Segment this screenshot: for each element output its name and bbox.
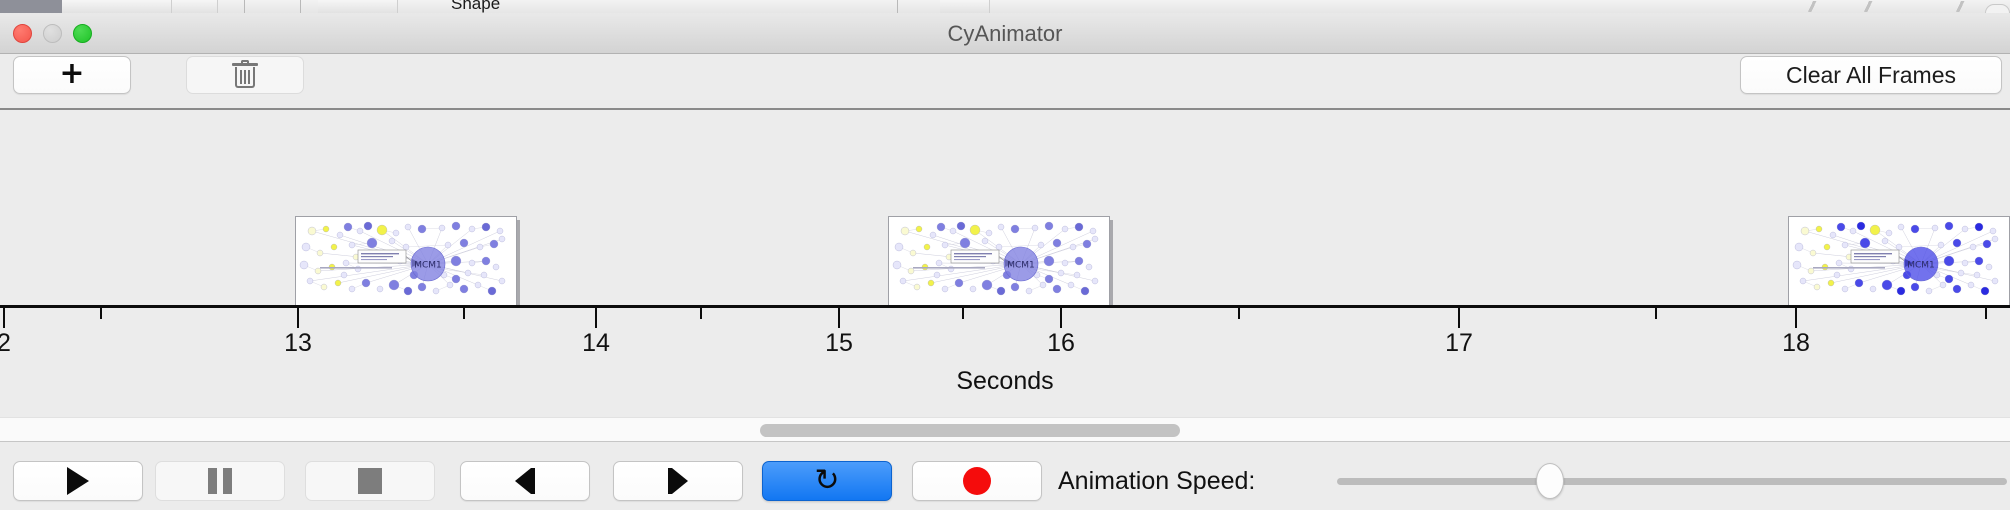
- timeline-frame-thumbnail[interactable]: MCM1: [888, 216, 1110, 308]
- ruler-tick-label: 18: [1782, 329, 1810, 358]
- ruler-major-tick: [1060, 308, 1062, 328]
- clear-all-frames-label: Clear All Frames: [1786, 62, 1956, 89]
- bg-slash: [1804, 1, 1819, 12]
- bg-tick: [300, 0, 301, 13]
- ruler-tick-label: 15: [825, 329, 853, 358]
- stop-icon: [358, 468, 382, 494]
- ruler-minor-tick: [1985, 308, 1987, 319]
- skip-forward-icon: [668, 468, 688, 494]
- loop-button[interactable]: ↻: [762, 461, 892, 501]
- plus-icon: +: [59, 59, 84, 89]
- trash-icon: [232, 61, 258, 89]
- stop-button[interactable]: [305, 461, 435, 501]
- record-icon: [963, 467, 991, 495]
- cyanimator-window: Shape CyAnimator + Clear All Frames: [0, 0, 2010, 510]
- ruler-major-tick: [1795, 308, 1797, 328]
- ruler-minor-tick: [463, 308, 465, 319]
- slider-thumb[interactable]: [1536, 463, 1564, 499]
- bg-block: [940, 0, 990, 13]
- window-title: CyAnimator: [0, 13, 2010, 54]
- ruler-axis-title: Seconds: [0, 367, 2010, 396]
- add-frame-button[interactable]: +: [13, 56, 131, 94]
- ruler-tick-label: 14: [582, 329, 610, 358]
- bg-slash: [1952, 1, 1967, 12]
- bg-dark-block: [0, 0, 62, 13]
- scrollbar-thumb[interactable]: [760, 424, 1180, 437]
- skip-forward-button[interactable]: [613, 461, 743, 501]
- ruler-minor-tick: [100, 308, 102, 319]
- play-icon: [67, 467, 89, 495]
- horizontal-scrollbar[interactable]: [0, 417, 2010, 442]
- loop-icon: ↻: [814, 466, 839, 496]
- ruler-major-tick: [838, 308, 840, 328]
- ruler-minor-tick: [962, 308, 964, 319]
- ruler-minor-tick: [700, 308, 702, 319]
- slider-rail: [1337, 478, 2007, 485]
- timeline-frame-thumbnail[interactable]: MCM1: [295, 216, 517, 308]
- ruler-tick-label: 13: [284, 329, 312, 358]
- ruler-tick-label: 16: [1047, 329, 1075, 358]
- svg-text:MCM1: MCM1: [1007, 261, 1035, 271]
- network-graph-preview: MCM1: [889, 217, 1109, 307]
- pause-icon: [208, 468, 232, 494]
- timeline-track[interactable]: MCM1 MCM1 MCM1: [0, 112, 2010, 308]
- ruler-tick-label: 2: [0, 329, 11, 358]
- delete-frame-button[interactable]: [186, 56, 304, 94]
- animation-speed-label: Animation Speed:: [1058, 462, 1255, 500]
- svg-text:MCM1: MCM1: [414, 261, 442, 271]
- bg-tick: [244, 0, 245, 13]
- skip-back-icon: [515, 468, 535, 494]
- bg-tab: [1985, 4, 2010, 13]
- ruler-major-tick: [1458, 308, 1460, 328]
- background-window-strip: Shape: [0, 0, 2010, 13]
- ruler-major-tick: [3, 308, 5, 328]
- timeline-frame-thumbnail[interactable]: MCM1: [1788, 216, 2010, 308]
- ruler-axis-line: [0, 305, 2010, 308]
- play-button[interactable]: [13, 461, 143, 501]
- animation-speed-slider[interactable]: [1337, 472, 2007, 490]
- bg-shape-label: Shape: [451, 0, 500, 13]
- bg-block: [318, 0, 398, 13]
- network-graph-preview: MCM1: [1789, 217, 2009, 307]
- clear-all-frames-button[interactable]: Clear All Frames: [1740, 56, 2002, 94]
- ruler-minor-tick: [1655, 308, 1657, 319]
- record-button[interactable]: [912, 461, 1042, 501]
- ruler-major-tick: [297, 308, 299, 328]
- ruler-minor-tick: [1238, 308, 1240, 319]
- network-graph-preview: MCM1: [296, 217, 516, 307]
- bg-slash: [1860, 1, 1875, 12]
- bg-block: [172, 0, 218, 13]
- title-bar: CyAnimator: [0, 13, 2010, 54]
- ruler-tick-label: 17: [1445, 329, 1473, 358]
- ruler-major-tick: [595, 308, 597, 328]
- timeline-ruler[interactable]: Seconds 2131415161718: [0, 305, 2010, 415]
- bg-tick: [897, 0, 898, 13]
- svg-text:MCM1: MCM1: [1907, 261, 1935, 271]
- pause-button[interactable]: [155, 461, 285, 501]
- skip-back-button[interactable]: [460, 461, 590, 501]
- bg-block: [62, 0, 172, 13]
